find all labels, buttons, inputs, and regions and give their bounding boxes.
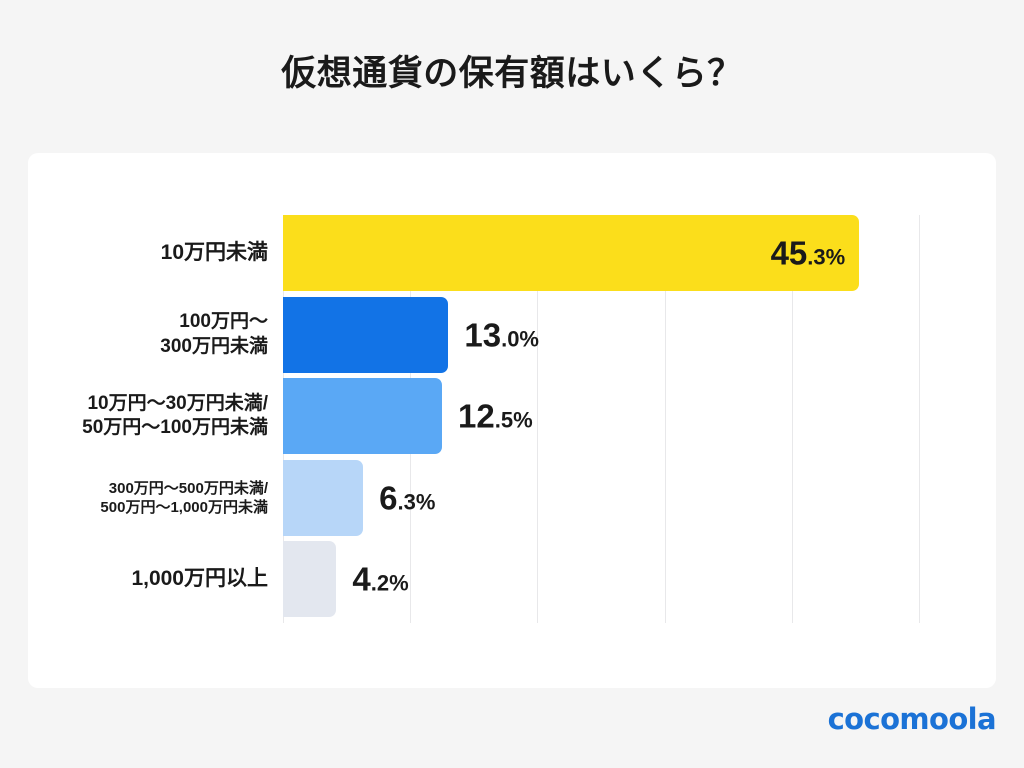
bar-value-integer: 6 xyxy=(379,479,397,516)
bar-value-integer: 45 xyxy=(771,235,808,272)
bar-value-fraction: .0% xyxy=(501,326,539,351)
bar-value-label: 12.5% xyxy=(458,400,533,433)
category-label: 10万円〜30万円未満/ 50万円〜100万円未満 xyxy=(82,392,268,441)
bar-row: 4.2% xyxy=(283,541,919,617)
bar-value-integer: 4 xyxy=(352,561,370,598)
bar-value-label: 13.0% xyxy=(464,318,539,351)
bar-value-label: 45.3% xyxy=(771,237,846,270)
bar[interactable] xyxy=(283,297,448,373)
bar-value-fraction: .2% xyxy=(371,571,409,596)
page-title: 仮想通貨の保有額はいくら？ xyxy=(0,52,1024,96)
bar-value-fraction: .5% xyxy=(495,408,533,433)
bar-value-label: 4.2% xyxy=(352,563,408,596)
category-label-slot: 100万円〜 300万円未満 xyxy=(28,297,268,373)
category-label: 1,000万円以上 xyxy=(131,566,268,593)
bar-row: 12.5% xyxy=(283,378,919,454)
plot-area: 45.3%13.0%12.5%6.3%4.2% xyxy=(283,215,919,623)
category-label: 10万円未満 xyxy=(161,240,268,267)
brand-logo: cocomoola xyxy=(828,702,996,736)
category-label-slot: 1,000万円以上 xyxy=(28,541,268,617)
category-label: 300万円〜500万円未満/ 500万円〜1,000万円未満 xyxy=(100,479,268,517)
category-label-slot: 10万円〜30万円未満/ 50万円〜100万円未満 xyxy=(28,378,268,454)
category-label: 100万円〜 300万円未満 xyxy=(160,310,268,359)
chart-page: 仮想通貨の保有額はいくら？ 45.3%13.0%12.5%6.3%4.2% 10… xyxy=(0,0,1024,768)
bar[interactable]: 45.3% xyxy=(283,215,859,291)
bar-row: 6.3% xyxy=(283,460,919,536)
bar[interactable] xyxy=(283,541,336,617)
category-label-slot: 10万円未満 xyxy=(28,215,268,291)
gridline xyxy=(919,215,920,623)
bar-row: 45.3% xyxy=(283,215,919,291)
category-label-slot: 300万円〜500万円未満/ 500万円〜1,000万円未満 xyxy=(28,460,268,536)
category-axis: 10万円未満100万円〜 300万円未満10万円〜30万円未満/ 50万円〜10… xyxy=(28,215,268,623)
bar-value-fraction: .3% xyxy=(397,489,435,514)
bar-row: 13.0% xyxy=(283,297,919,373)
bar-value-fraction: .3% xyxy=(807,245,845,270)
bar[interactable] xyxy=(283,460,363,536)
bar-value-integer: 12 xyxy=(458,398,495,435)
bar[interactable] xyxy=(283,378,442,454)
bar-value-label: 6.3% xyxy=(379,481,435,514)
bar-value-integer: 13 xyxy=(464,316,501,353)
